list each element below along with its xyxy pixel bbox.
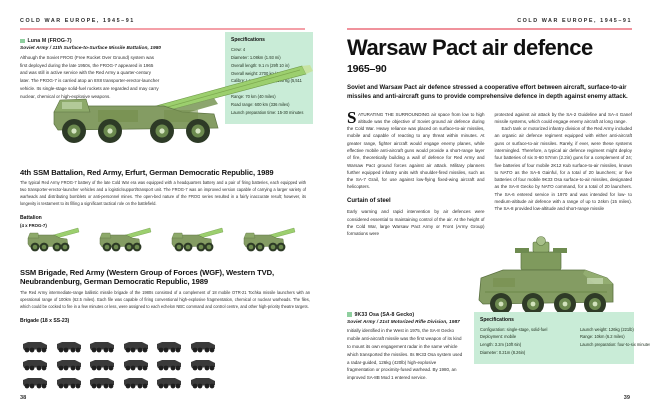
article-title: Warsaw Pact air defence — [347, 37, 632, 59]
right-spec-panel: Specifications Configuration: single-sta… — [474, 312, 634, 364]
ss23-counter-icon — [20, 358, 48, 371]
unit1-headline: 4th SSM Battalion, Red Army, Erfurt, Ger… — [20, 168, 306, 177]
ss23-counter-icon — [54, 376, 82, 389]
unit2-org-label: Brigade (18 x SS-23) — [20, 318, 310, 324]
ss23-counter-icon — [154, 358, 182, 371]
ss23-counter-icon — [87, 340, 115, 353]
ss23-counter-icon — [188, 358, 216, 371]
spec-row: Launch preparation: four-to-six minutes — [580, 341, 650, 349]
unit1-vehicle-row — [20, 224, 298, 259]
frog7-small-icon — [236, 224, 298, 259]
counter-row — [20, 358, 216, 371]
article-columns: SATURATING THE SURROUNDING air space fro… — [347, 111, 632, 238]
spec-row: Length: 3.2m (10ft 6in) — [480, 341, 566, 349]
ss23-counter-icon — [121, 340, 149, 353]
article-paragraph: SATURATING THE SURROUNDING air space fro… — [347, 111, 485, 191]
ss23-counter-icon — [154, 340, 182, 353]
spec-row: Deployment: mobile — [480, 333, 566, 341]
spec-row: Diameter: 0.21m (8.26in) — [480, 349, 566, 357]
frog7-small-icon — [20, 224, 82, 259]
spec-column-1: Configuration: single-stage, solid-fuel … — [480, 326, 566, 357]
unit2-counter-grid — [20, 340, 216, 394]
frog7-small-icon — [92, 224, 154, 259]
article-column-left: SATURATING THE SURROUNDING air space fro… — [347, 111, 485, 238]
unit1-body: The typical Red Army FROG-7 battery of t… — [20, 180, 306, 208]
right-spec-title: Specifications — [480, 317, 628, 323]
ss23-counter-icon — [121, 358, 149, 371]
ss23-counter-icon — [121, 376, 149, 389]
ss23-counter-icon — [87, 358, 115, 371]
right-caption-body: Initially identified in the West in 1975… — [347, 327, 465, 382]
unit1-org-label: Battalion — [20, 215, 306, 221]
ss23-counter-icon — [154, 376, 182, 389]
right-caption-title: 9K33 Osa (SA-8 Gecko) — [355, 312, 415, 318]
spec-row: Configuration: single-stage, solid-fuel — [480, 326, 566, 334]
ss23-counter-icon — [20, 340, 48, 353]
right-page: COLD WAR EUROPE, 1945–91 Warsaw Pact air… — [325, 0, 650, 410]
book-spread: COLD WAR EUROPE, 1945–91 Luna M (FROG-7)… — [0, 0, 650, 410]
article-paragraph: protected against air attack by the SA-2… — [495, 111, 633, 126]
left-page: COLD WAR EUROPE, 1945–91 Luna M (FROG-7)… — [0, 0, 325, 410]
spec-row: Range: 10km (6.2 miles) — [580, 333, 650, 341]
ss23-counter-icon — [87, 376, 115, 389]
left-folio: 38 — [20, 395, 26, 401]
right-header-rule — [347, 28, 632, 30]
article-paragraph: Each tank or motorized infantry division… — [495, 125, 633, 212]
article-subhead: Curtain of steel — [347, 197, 485, 207]
unit2-headline: SSM Brigade, Red Army (Western Group of … — [20, 268, 310, 287]
unit2-body: The Red Army intermediate-range ballisti… — [20, 290, 310, 311]
green-square-icon — [347, 312, 352, 317]
counter-row — [20, 340, 216, 353]
right-folio: 39 — [624, 395, 630, 401]
ss23-counter-icon — [54, 340, 82, 353]
ss23-counter-icon — [188, 340, 216, 353]
right-caption-subtitle: Soviet Army / 21st Motorized Rifle Divis… — [347, 320, 465, 325]
right-running-head: COLD WAR EUROPE, 1945–91 — [347, 18, 632, 24]
frog7-launcher-illustration — [14, 36, 314, 146]
counter-row — [20, 376, 216, 389]
left-running-head: COLD WAR EUROPE, 1945–91 — [20, 18, 305, 24]
right-caption-head: 9K33 Osa (SA-8 Gecko) — [347, 312, 465, 318]
ss23-counter-icon — [20, 376, 48, 389]
article-standfirst: Soviet and Warsaw Pact air defence stres… — [347, 83, 632, 102]
spec-column-2: Launch weight: 126kg (221lb) Range: 10km… — [580, 326, 650, 357]
frog7-small-icon — [164, 224, 226, 259]
spec-row: Launch weight: 126kg (221lb) — [580, 326, 650, 334]
article-dates: 1965–90 — [347, 63, 632, 75]
ss23-counter-icon — [188, 376, 216, 389]
ss23-counter-icon — [54, 358, 82, 371]
article-column-right: protected against air attack by the SA-2… — [495, 111, 633, 238]
